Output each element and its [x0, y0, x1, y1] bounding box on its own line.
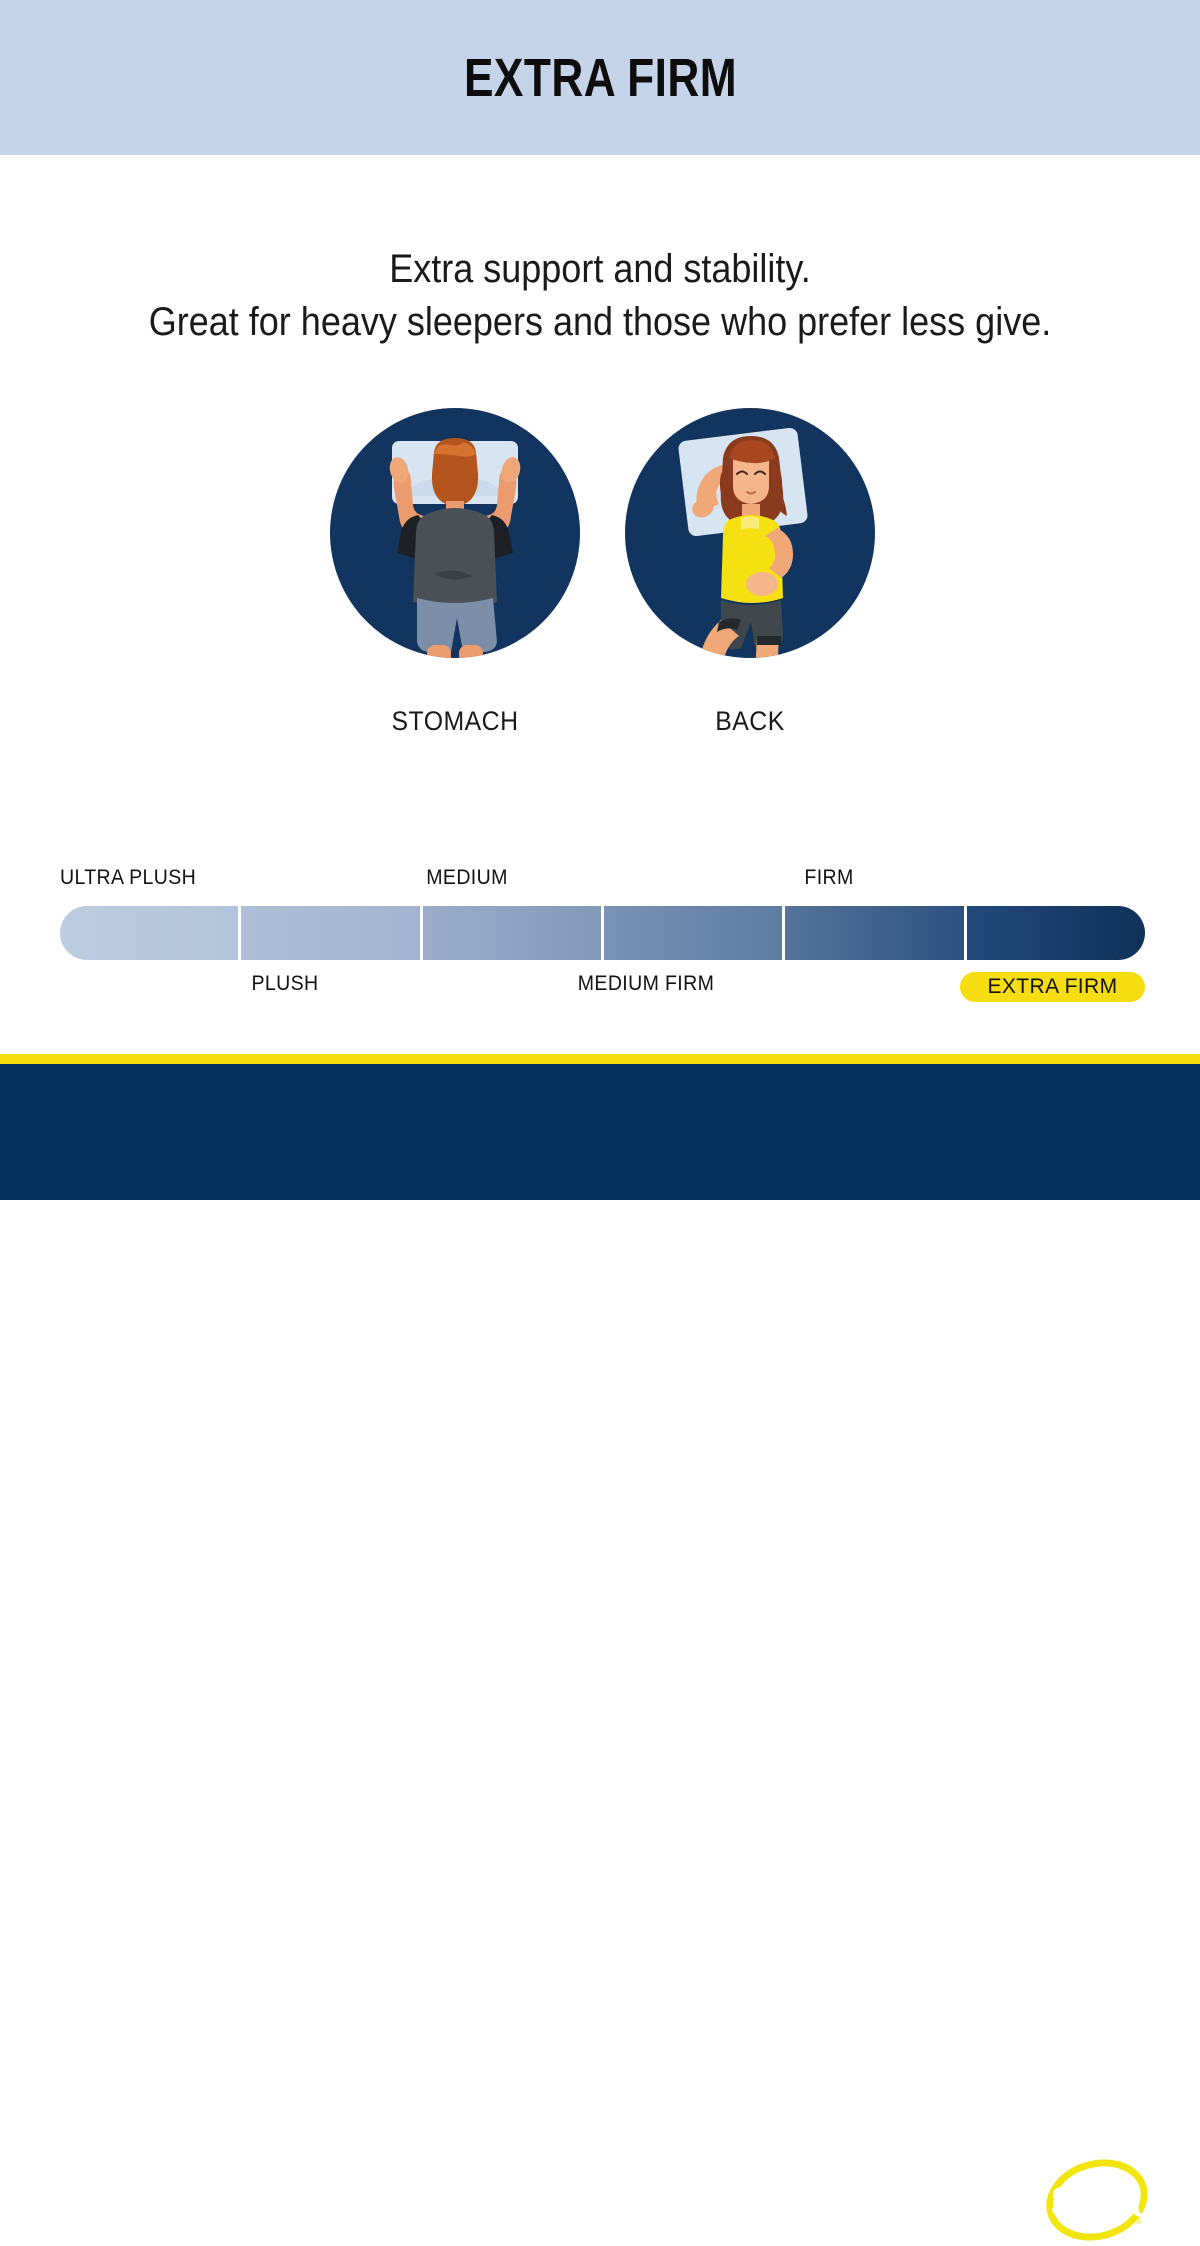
footer-accent-stripe [0, 1054, 1200, 1064]
firmness-segment-medium-firm[interactable] [604, 906, 782, 960]
firmness-label-medium-firm: MEDIUM FIRM [578, 972, 714, 996]
firmness-segment-extra-firm[interactable] [967, 906, 1145, 960]
registered-mark: ® [1136, 2217, 1142, 2226]
firmness-scale: ULTRA PLUSH MEDIUM FIRM PLUSH MEDIUM FIR… [60, 866, 1145, 1006]
stomach-sleeper-icon [330, 408, 580, 658]
firmness-scale-bar[interactable] [60, 906, 1145, 960]
firmness-label-ultra-plush: ULTRA PLUSH [60, 866, 196, 890]
firmness-segment-plush[interactable] [241, 906, 419, 960]
firmness-selected-badge-extra-firm[interactable]: EXTRA FIRM [960, 972, 1145, 1002]
subtitle-line-2: Great for heavy sleepers and those who p… [60, 296, 1140, 349]
svg-text:Serta: Serta [1051, 2180, 1142, 2226]
sleep-position-labels: STOMACH BACK [0, 706, 1200, 746]
firmness-segment-ultra-plush[interactable] [60, 906, 238, 960]
header-banner: EXTRA FIRM [0, 0, 1200, 155]
serta-logo: Serta ® [1042, 2154, 1152, 2246]
firmness-segment-firm[interactable] [785, 906, 963, 960]
firmness-segment-medium[interactable] [423, 906, 601, 960]
subtitle-line-1: Extra support and stability. [60, 243, 1140, 296]
firmness-label-plush: PLUSH [252, 972, 319, 996]
firmness-scale-top-labels: ULTRA PLUSH MEDIUM FIRM [60, 866, 1145, 898]
sleep-position-label-back: BACK [635, 706, 865, 737]
footer-bar: Serta ® [0, 1064, 1200, 1200]
sleep-position-illustrations [0, 408, 1200, 668]
page-title: EXTRA FIRM [463, 47, 736, 109]
subtitle-block: Extra support and stability. Great for h… [0, 243, 1200, 349]
back-sleeper-icon [625, 408, 875, 658]
sleep-position-label-stomach: STOMACH [340, 706, 570, 737]
firmness-label-firm: FIRM [804, 866, 853, 890]
firmness-label-medium: MEDIUM [426, 866, 507, 890]
